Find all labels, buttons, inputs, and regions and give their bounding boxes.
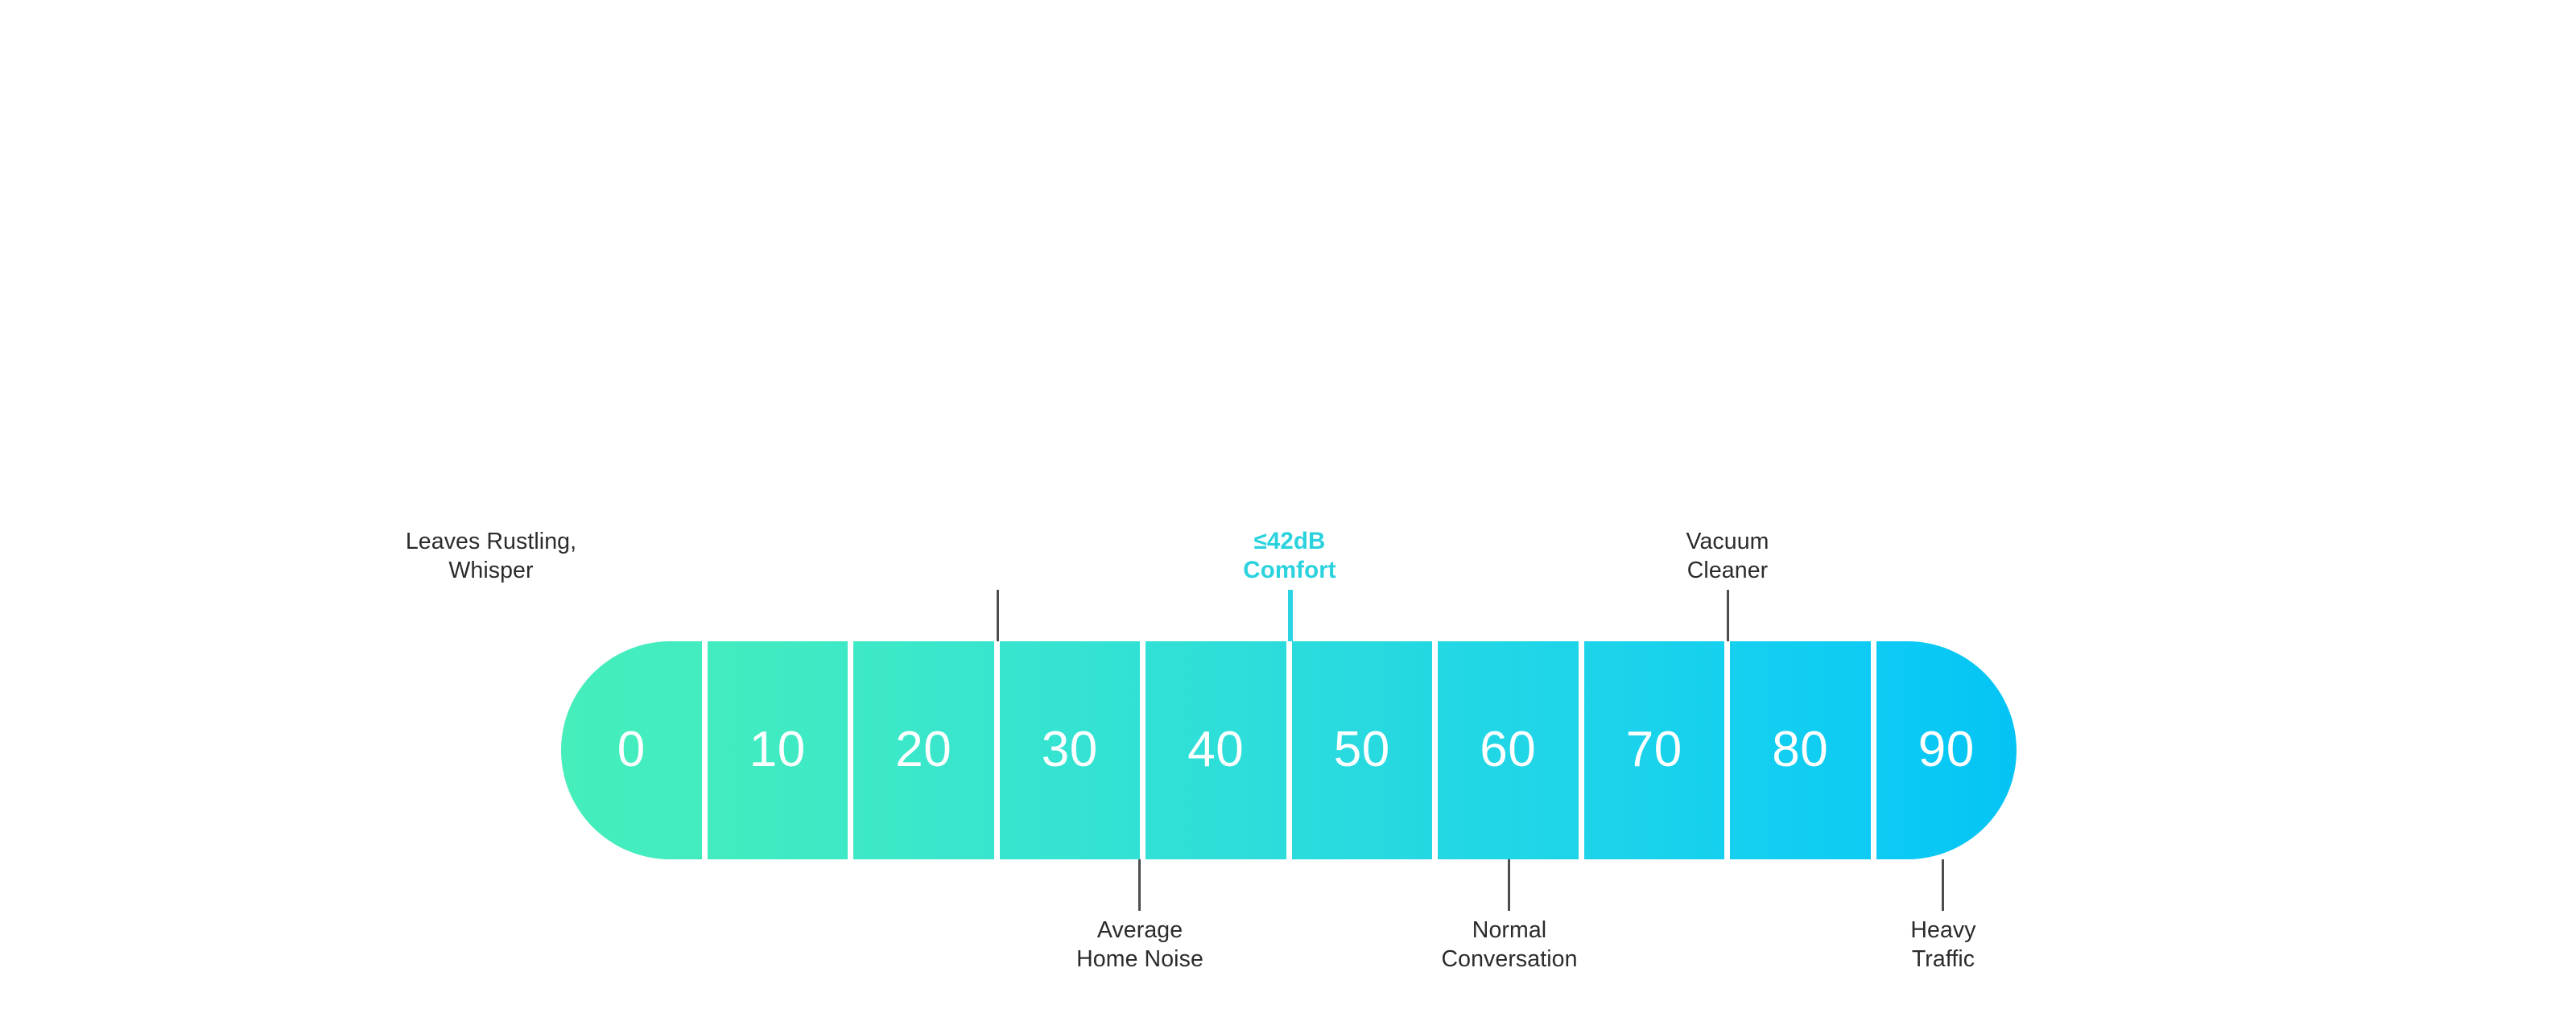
callout-label: Average Home Noise <box>979 916 1301 974</box>
scale-segment-value: 80 <box>1772 725 1828 775</box>
scale-segment-80[interactable]: 80 <box>1724 641 1871 859</box>
callout-average-home-noise: Average Home Noise <box>979 916 1301 974</box>
scale-segment-20[interactable]: 20 <box>848 641 994 859</box>
scale-segment-value: 70 <box>1626 725 1682 775</box>
scale-segment-50[interactable]: 50 <box>1286 641 1433 859</box>
scale-bar-track: 0 10 20 30 40 50 60 70 <box>561 641 2017 859</box>
tick-average-home-noise <box>1138 859 1141 911</box>
scale-segment-value: 90 <box>1918 725 1975 775</box>
scale-segment-10[interactable]: 10 <box>702 641 848 859</box>
scale-segment-90[interactable]: 90 <box>1871 641 2017 859</box>
tick-leaves-rustling-whisper <box>997 590 999 641</box>
callout-leaves-rustling-whisper: Leaves Rustling, Whisper <box>330 527 652 585</box>
noise-scale-bar: 0 10 20 30 40 50 60 70 <box>561 641 2017 859</box>
noise-scale-infographic: Leaves Rustling, Whisper ≤42dB Comfort V… <box>0 0 2576 1009</box>
scale-segment-60[interactable]: 60 <box>1432 641 1579 859</box>
scale-segment-70[interactable]: 70 <box>1579 641 1725 859</box>
scale-segment-value: 10 <box>749 725 806 775</box>
callout-label: Normal Conversation <box>1348 916 1670 974</box>
callout-label: Leaves Rustling, Whisper <box>330 527 652 585</box>
callout-comfort-42db: ≤42dB Comfort <box>1129 527 1451 585</box>
scale-segment-value: 40 <box>1187 725 1244 775</box>
callout-label: Heavy Traffic <box>1782 916 2104 974</box>
scale-segment-30[interactable]: 30 <box>994 641 1141 859</box>
callout-label: ≤42dB Comfort <box>1129 527 1451 585</box>
scale-segment-value: 50 <box>1334 725 1390 775</box>
scale-segment-value: 30 <box>1042 725 1098 775</box>
callout-heavy-traffic: Heavy Traffic <box>1782 916 2104 974</box>
scale-segment-0[interactable]: 0 <box>561 641 702 859</box>
tick-comfort-42db <box>1288 590 1293 641</box>
scale-segment-value: 0 <box>617 725 646 775</box>
tick-vacuum-cleaner <box>1727 590 1729 641</box>
tick-heavy-traffic <box>1942 859 1944 911</box>
callout-vacuum-cleaner: Vacuum Cleaner <box>1567 527 1889 585</box>
tick-normal-conversation <box>1508 859 1510 911</box>
scale-segment-40[interactable]: 40 <box>1140 641 1286 859</box>
scale-segment-value: 60 <box>1480 725 1536 775</box>
scale-segment-value: 20 <box>895 725 952 775</box>
callout-label: Vacuum Cleaner <box>1567 527 1889 585</box>
callout-normal-conversation: Normal Conversation <box>1348 916 1670 974</box>
